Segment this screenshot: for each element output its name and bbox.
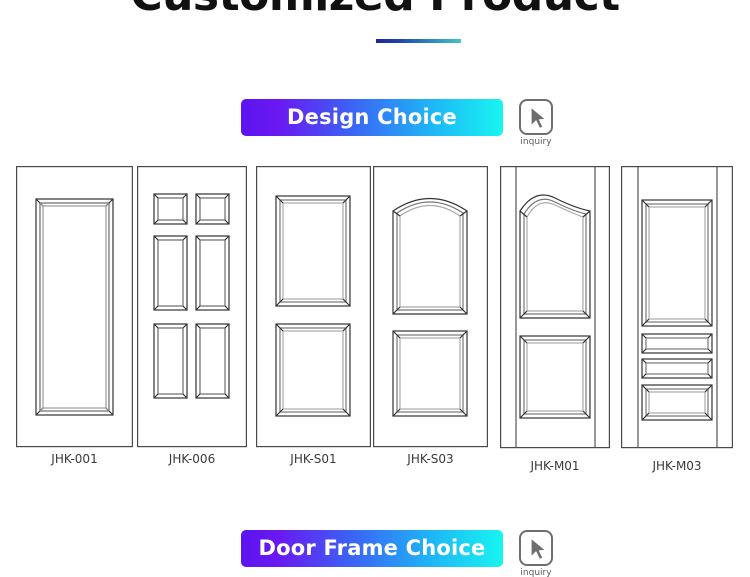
customized-product-page: Customized Product Design Choice inquiry: [0, 0, 750, 577]
door-drawing-jhk-s03: [373, 166, 488, 448]
door-label-jhk-001: JHK-001: [16, 452, 133, 466]
design-choice-inquiry-button[interactable]: inquiry: [513, 99, 559, 148]
door-card-jhk-m03[interactable]: JHK-M03: [621, 166, 733, 449]
door-frame-choice-inquiry-button[interactable]: inquiry: [513, 530, 559, 577]
door-frame-choice-section-header: Door Frame Choice inquiry: [241, 530, 559, 577]
door-label-jhk-s01: JHK-S01: [256, 452, 371, 466]
door-card-jhk-s03[interactable]: JHK-S03: [373, 166, 488, 448]
title-underline-rule: [376, 39, 461, 43]
inquiry-label: inquiry: [520, 568, 551, 577]
design-choice-button[interactable]: Design Choice: [241, 99, 503, 136]
door-card-jhk-m01[interactable]: JHK-M01: [500, 166, 610, 449]
door-drawing-jhk-m03: [621, 166, 733, 449]
door-frame-choice-button[interactable]: Door Frame Choice: [241, 530, 503, 567]
door-drawing-jhk-001: [16, 166, 133, 448]
door-card-jhk-001[interactable]: JHK-001: [16, 166, 133, 448]
door-label-jhk-s03: JHK-S03: [373, 452, 488, 466]
door-label-jhk-m03: JHK-M03: [621, 459, 733, 473]
cursor-arrow-icon[interactable]: [519, 530, 553, 566]
door-drawing-jhk-s01: [256, 166, 371, 448]
door-card-jhk-s01[interactable]: JHK-S01: [256, 166, 371, 448]
door-label-jhk-m01: JHK-M01: [500, 459, 610, 473]
door-label-jhk-006: JHK-006: [137, 452, 247, 466]
door-drawing-jhk-006: [137, 166, 247, 448]
design-choice-section-header: Design Choice inquiry: [241, 99, 559, 148]
door-drawing-jhk-m01: [500, 166, 610, 449]
inquiry-label: inquiry: [520, 137, 551, 148]
cursor-arrow-icon[interactable]: [519, 99, 553, 135]
cursor-arrow-glyph: [529, 106, 549, 130]
page-title: Customized Product: [0, 0, 750, 21]
door-design-gallery: JHK-001: [0, 166, 750, 486]
door-card-jhk-006[interactable]: JHK-006: [137, 166, 247, 448]
cursor-arrow-glyph: [529, 537, 549, 561]
